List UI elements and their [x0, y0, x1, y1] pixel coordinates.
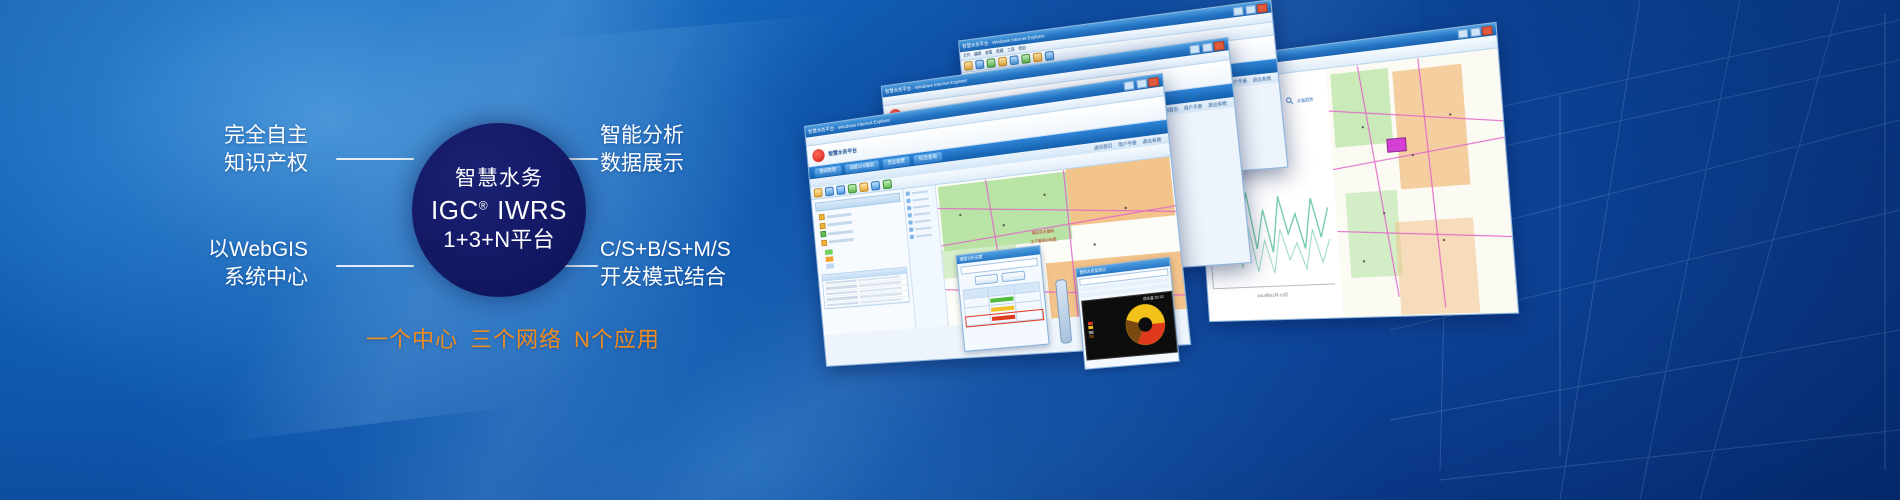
feature-label-top-left-line2: 知识产权 [224, 150, 308, 178]
maximize-icon [1245, 4, 1256, 14]
tagline-part3: N个应用 [574, 327, 660, 352]
brand-circle-line3: 1+3+N平台 [443, 228, 554, 253]
close-icon [1213, 40, 1224, 50]
brand-name-iwrs: IWRS [497, 195, 567, 225]
open-icon[interactable] [975, 59, 984, 69]
menu-item-tools[interactable]: 工具 [1007, 47, 1015, 53]
confirm-button[interactable] [975, 274, 999, 286]
map-orange-zone [1393, 64, 1471, 190]
pan-icon[interactable] [814, 188, 823, 198]
attribute-table[interactable] [821, 266, 910, 310]
connector-bottom-left [336, 265, 414, 267]
close-icon [1148, 76, 1160, 86]
tagline: 一个中心三个网络N个应用 [366, 322, 660, 354]
minimize-icon [1457, 28, 1468, 38]
minimize-icon [1189, 44, 1200, 54]
minimize-icon [1233, 6, 1244, 16]
pie-legend [1084, 320, 1096, 341]
map-tool-item[interactable] [907, 196, 936, 203]
subnav-item-logout[interactable]: 退出系统 [1208, 100, 1227, 109]
menu-item-help[interactable]: 帮助 [1018, 45, 1026, 51]
city-map-panel[interactable] [1326, 48, 1518, 318]
layer-legend [819, 241, 906, 269]
hero-banner: 完全自主 知识产权 以WebGIS 系统中心 智能分析 数据展示 C/S+B/S… [0, 0, 1900, 500]
print-map-icon[interactable] [882, 179, 892, 189]
measure-icon[interactable] [871, 181, 881, 191]
map-tool-item[interactable] [906, 188, 935, 196]
feature-label-bottom-left: 以WebGIS 系统中心 [208, 236, 308, 291]
brand-circle-line1: 智慧水务 [455, 167, 543, 191]
tagline-part1: 一个中心 [366, 327, 458, 352]
menu-item-view[interactable]: 查看 [985, 50, 993, 56]
subnav-item-manual[interactable]: 用户手册 [1183, 103, 1202, 112]
query-icon[interactable] [1033, 52, 1043, 62]
pie-svg [1121, 299, 1171, 350]
burst-analysis-dialog[interactable]: 爆管分析设置 [956, 245, 1050, 352]
feature-label-bottom-right-line1: C/S+B/S+M/S [600, 236, 731, 264]
subnav-item-logout[interactable]: 退出系统 [1252, 75, 1271, 84]
map-highlight-block [1387, 137, 1408, 153]
select-icon[interactable] [848, 184, 857, 194]
water-quality-monitor-dialog[interactable]: 管网水质监测点 供水量 52.23 [1075, 257, 1179, 370]
map-tool-item[interactable] [907, 203, 936, 210]
map-annotation-2: 主干管网分布图 [1030, 236, 1057, 244]
map-tool-item[interactable] [910, 232, 939, 239]
connector-top-left [336, 158, 414, 160]
save-icon[interactable] [986, 58, 995, 68]
feature-label-top-right-line2: 数据展示 [600, 150, 684, 178]
supply-pie-chart: 供水量 52.23 [1081, 291, 1178, 361]
feature-label-top-right-line1: 智能分析 [600, 122, 684, 150]
map-tool-item[interactable] [909, 217, 938, 224]
registered-mark-icon: ® [479, 198, 488, 212]
maximize-icon [1469, 27, 1480, 37]
menu-item-favorites[interactable]: 收藏 [996, 48, 1004, 54]
layer-tree-panel[interactable] [812, 189, 917, 335]
map-tool-item[interactable] [908, 210, 937, 217]
brand-diagram: 完全自主 知识产权 以WebGIS 系统中心 智能分析 数据展示 C/S+B/S… [0, 0, 800, 500]
new-icon[interactable] [964, 61, 973, 71]
zoom-out-icon[interactable] [836, 185, 845, 195]
feature-label-bottom-right: C/S+B/S+M/S 开发模式结合 [600, 236, 731, 291]
dialog-body: 供水量 52.23 [1077, 266, 1178, 363]
dialog-result-table [963, 281, 1044, 326]
identify-icon[interactable] [859, 182, 869, 192]
dialog-body [957, 254, 1046, 330]
menu-item-file[interactable]: 文件 [963, 53, 971, 59]
maximize-icon [1135, 78, 1146, 88]
company-logo-icon [812, 148, 825, 163]
feature-label-bottom-right-line2: 开发模式结合 [600, 264, 731, 292]
print-icon[interactable] [998, 57, 1007, 67]
brand-name-igc: IGC [431, 195, 479, 225]
brand-circle-line2: IGC®IWRS [431, 196, 567, 225]
zoom-icon[interactable] [1009, 55, 1019, 65]
brand-circle: 智慧水务 IGC®IWRS 1+3+N平台 [412, 123, 586, 297]
menu-item-edit[interactable]: 编辑 [974, 51, 982, 57]
layer-icon[interactable] [1021, 54, 1031, 64]
close-icon [1256, 3, 1267, 13]
map-tool-item[interactable] [909, 225, 938, 232]
cancel-button[interactable] [1001, 271, 1025, 283]
application-screenshots: 水量趋势 2014年01月-12月 [790, 40, 1880, 370]
tagline-part2: 三个网络 [470, 327, 562, 352]
maximize-icon [1201, 42, 1212, 52]
feature-label-bottom-left-line1: 以WebGIS [208, 236, 308, 264]
chart-x-axis-label: 2014年01月-12月 [1257, 292, 1288, 298]
app-brand-text: 智慧水务平台 [828, 146, 857, 157]
feature-label-top-right: 智能分析 数据展示 [600, 122, 684, 177]
measure-icon[interactable] [1045, 51, 1055, 61]
feature-label-top-left-line1: 完全自主 [224, 122, 308, 150]
feature-label-top-left: 完全自主 知识产权 [224, 122, 308, 177]
close-icon [1482, 25, 1493, 35]
map-green-zone [1331, 68, 1394, 148]
minimize-icon [1123, 80, 1134, 90]
zoom-in-icon[interactable] [825, 186, 834, 196]
feature-label-bottom-left-line2: 系统中心 [208, 264, 308, 292]
